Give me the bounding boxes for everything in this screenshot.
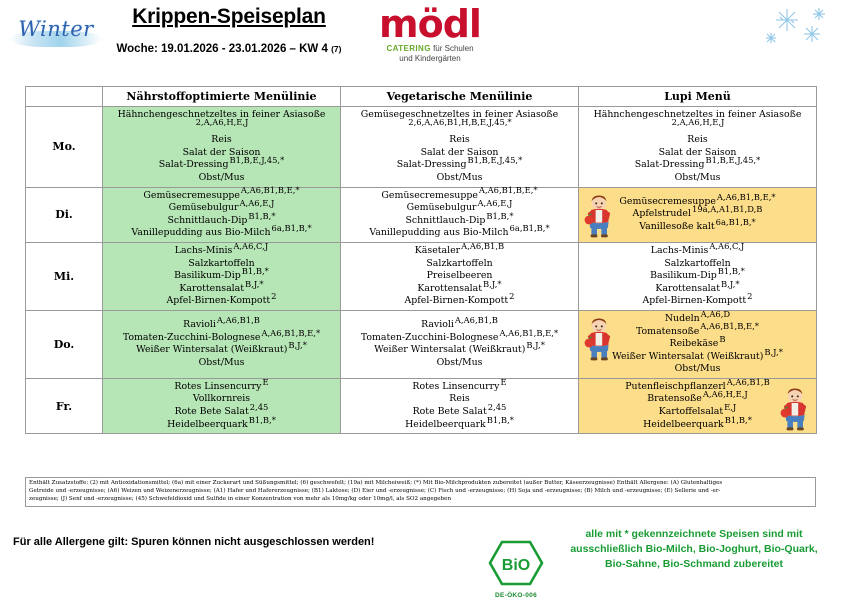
menu-line: Vollkornreis: [105, 393, 338, 406]
menu-line: Obst/Mus: [581, 172, 814, 185]
menu-cell-mo-col1: Hähnchengeschnetzeltes in feiner Asiasoß…: [103, 107, 341, 188]
allergen-codes: B,J,*: [483, 279, 502, 289]
winter-logo-text: Winter: [18, 17, 93, 41]
menu-line: Salat-DressingB1,B,E,J,45,*: [581, 159, 814, 172]
menu-line: Reis: [343, 393, 576, 406]
page-title: Krippen-Speiseplan: [104, 4, 354, 29]
menu-cell-do-col2: RavioliA,A6,B1,BTomaten-Zucchini-Bologne…: [341, 310, 579, 378]
allergen-footnote-box: Enthält Zusatzstoffe: (2) mit Antioxidat…: [25, 477, 816, 507]
menu-table-body: Mo.Hähnchengeschnetzeltes in feiner Asia…: [26, 107, 817, 434]
day-label-do: Do.: [26, 310, 103, 378]
allergen-codes: B,J,*: [288, 340, 307, 350]
menu-line: Preiselbeeren: [343, 270, 576, 283]
allergen-codes: B1,B,*: [242, 266, 269, 276]
allergen-codes: 2,6,A,A6,B1,H,B,E,J,45,*: [408, 117, 511, 127]
column-header-naehrstoffoptimiert: Nährstoffoptimierte Menülinie: [103, 87, 341, 107]
allergen-codes: A,A6,B1,B,E,*: [499, 328, 558, 338]
menu-line: TomatensoßeA,A6,B1,B,E,*: [581, 326, 814, 339]
snowflake-decoration: [757, 4, 835, 50]
menu-line: BratensoßeA,A6,H,E,J: [581, 393, 814, 406]
menu-line: GemüsecremesuppeA,A6,B1,B,E,*: [343, 190, 576, 203]
allergen-codes: A,A6,B1,B,E,*: [261, 328, 320, 338]
allergen-codes: A,A6,C,J: [233, 241, 268, 251]
menu-cell-mo-col3: Hähnchengeschnetzeltes in feiner Asiasoß…: [579, 107, 817, 188]
menu-line: Salat-DressingB1,B,E,J,45,*: [343, 159, 576, 172]
day-label-mi: Mi.: [26, 242, 103, 310]
menu-cell-mi-col3: Lachs-MinisA,A6,C,JSalzkartoffelnBasilik…: [579, 242, 817, 310]
modl-catering-word: CATERING: [386, 44, 430, 53]
footnote-line-2: Getreide und -erzeugnisse; (A6) Weizen u…: [29, 487, 812, 495]
allergen-codes: A,A6,B1,B,E,*: [479, 185, 538, 195]
allergen-codes: A,A6,E,J: [478, 198, 513, 208]
modl-wordmark: mödl: [365, 4, 495, 44]
day-label-di: Di.: [26, 187, 103, 242]
allergen-codes: 2,45: [488, 402, 507, 412]
menu-line: NudelnA,A6,D: [581, 313, 814, 326]
bio-code-label: DE-ÖKO-006: [485, 592, 547, 599]
allergen-codes: A,A6,B1,B: [455, 315, 498, 325]
column-header-day: [26, 87, 103, 107]
allergen-trace-note: Für alle Allergene gilt: Spuren können n…: [13, 536, 374, 548]
menu-line: PutenfleischpflanzerlA,A6,B1,B: [581, 381, 814, 394]
menu-line: KarottensalatB,J,*: [581, 283, 814, 296]
menu-cell-fr-col3: PutenfleischpflanzerlA,A6,B1,BBratensoße…: [579, 378, 817, 433]
menu-line: Rote Bete Salat2,45: [343, 406, 576, 419]
allergen-codes: E: [262, 377, 268, 387]
table-row: Fr.Rotes LinsencurryEVollkornreisRote Be…: [26, 378, 817, 433]
menu-cell-do-col3: NudelnA,A6,DTomatensoßeA,A6,B1,B,E,*Reib…: [579, 310, 817, 378]
menu-line: Obst/Mus: [343, 357, 576, 370]
menu-line: HeidelbeerquarkB1,B,*: [581, 419, 814, 432]
allergen-codes: B1,B,*: [486, 211, 513, 221]
menu-line: 2,A,A6,H,E,J: [105, 122, 338, 135]
table-row: Mo.Hähnchengeschnetzeltes in feiner Asia…: [26, 107, 817, 188]
allergen-codes: E: [500, 377, 506, 387]
menu-cell-mi-col1: Lachs-MinisA,A6,C,JSalzkartoffelnBasilik…: [103, 242, 341, 310]
allergen-codes: B1,B,*: [487, 415, 514, 425]
menu-line: KäsetalerA,A6,B1,B: [343, 245, 576, 258]
allergen-codes: B1,B,*: [248, 211, 275, 221]
allergen-codes: 19a,A,A1,B1,D,B: [692, 204, 762, 214]
weekly-menu-table: Nährstoffoptimierte Menülinie Vegetarisc…: [25, 86, 817, 434]
allergen-codes: A,A6,E,J: [240, 198, 275, 208]
menu-line: 2,A,A6,H,E,J: [581, 122, 814, 135]
week-number-suffix: (7): [331, 44, 341, 54]
menu-cell-fr-col2: Rotes LinsencurryEReisRote Bete Salat2,4…: [341, 378, 579, 433]
bio-products-note: alle mit * gekennzeichnete Speisen sind …: [555, 527, 833, 572]
allergen-codes: A,A6,B1,B: [217, 315, 260, 325]
menu-line: Reis: [105, 134, 338, 147]
menu-line: Basilikum-DipB1,B,*: [581, 270, 814, 283]
allergen-codes: B: [719, 334, 725, 344]
allergen-codes: A,A6,B1,B,E,*: [241, 185, 300, 195]
allergen-codes: 2,45: [250, 402, 269, 412]
menu-line: Apfel-Birnen-Kompott2: [105, 295, 338, 308]
allergen-codes: A,A6,B1,B,E,*: [700, 321, 759, 331]
bio-note-line-1: alle mit * gekennzeichnete Speisen sind …: [555, 527, 833, 542]
menu-line: Lachs-MinisA,A6,C,J: [105, 245, 338, 258]
menu-line: HeidelbeerquarkB1,B,*: [105, 419, 338, 432]
menu-cell-di-col2: GemüsecremesuppeA,A6,B1,B,E,*Gemüsebulgu…: [341, 187, 579, 242]
allergen-codes: B,J,*: [721, 279, 740, 289]
bio-note-line-3: Bio-Sahne, Bio-Schmand zubereitet: [555, 557, 833, 572]
menu-line: Obst/Mus: [343, 172, 576, 185]
day-label-fr: Fr.: [26, 378, 103, 433]
menu-line: Reis: [343, 134, 576, 147]
modl-fuer-schulen: für Schulen: [431, 44, 474, 53]
menu-line: Weißer Wintersalat (Weißkraut)B,J,*: [105, 344, 338, 357]
menu-line: Apfel-Birnen-Kompott2: [343, 295, 576, 308]
title-block: Krippen-Speiseplan Woche: 19.01.2026 - 2…: [104, 4, 354, 55]
menu-line: Obst/Mus: [581, 363, 814, 376]
allergen-codes: B1,B,*: [249, 415, 276, 425]
allergen-codes: B1,B,*: [725, 415, 752, 425]
allergen-codes: B1,B,E,J,45,*: [229, 155, 284, 165]
week-range: Woche: 19.01.2026 - 23.01.2026 – KW 4 (7…: [104, 43, 354, 55]
table-row: Do.RavioliA,A6,B1,BTomaten-Zucchini-Bolo…: [26, 310, 817, 378]
page-header: Winter Krippen-Speiseplan Woche: 19.01.2…: [0, 0, 841, 82]
allergen-codes: 6a,B1,B,*: [716, 217, 756, 227]
menu-line: 2,6,A,A6,B1,H,B,E,J,45,*: [343, 122, 576, 135]
menu-line: KartoffelsalatE,J: [581, 406, 814, 419]
footnote-line-1: Enthält Zusatzstoffe: (2) mit Antioxidat…: [29, 479, 812, 487]
winter-season-logo: Winter: [8, 6, 104, 52]
allergen-codes: A,A6,H,E,J: [703, 389, 748, 399]
bio-note-line-2: ausschließlich Bio-Milch, Bio-Joghurt, B…: [555, 542, 833, 557]
menu-line: Salat der Saison: [343, 147, 576, 160]
menu-line: Apfel-Birnen-Kompott2: [581, 295, 814, 308]
menu-line: KarottensalatB,J,*: [105, 283, 338, 296]
speiseplan-page: Winter Krippen-Speiseplan Woche: 19.01.2…: [0, 0, 841, 595]
menu-line: Obst/Mus: [105, 357, 338, 370]
allergen-codes: 2: [747, 291, 752, 301]
allergen-codes: 6a,B1,B,*: [510, 223, 550, 233]
menu-line: Apfelstrudel19a,A,A1,B1,D,B: [581, 208, 814, 221]
table-header-row: Nährstoffoptimierte Menülinie Vegetarisc…: [26, 87, 817, 107]
menu-line: Salat der Saison: [581, 147, 814, 160]
menu-line: Vanillesoße kalt6a,B1,B,*: [581, 221, 814, 234]
day-label-mo: Mo.: [26, 107, 103, 188]
table-row: Di.GemüsecremesuppeA,A6,B1,B,E,*Gemüsebu…: [26, 187, 817, 242]
modl-brand-logo: mödl CATERING für Schulen und Kindergärt…: [365, 4, 495, 64]
menu-line: GemüsecremesuppeA,A6,B1,B,E,*: [105, 190, 338, 203]
allergen-codes: 2,A,A6,H,E,J: [672, 117, 725, 127]
menu-line: Rote Bete Salat2,45: [105, 406, 338, 419]
menu-line: GemüsebulgurA,A6,E,J: [343, 202, 576, 215]
column-header-vegetarisch: Vegetarische Menülinie: [341, 87, 579, 107]
week-range-label: Woche: 19.01.2026 - 23.01.2026 – KW 4: [117, 43, 328, 55]
allergen-codes: 2: [509, 291, 514, 301]
allergen-codes: B,J,*: [526, 340, 545, 350]
menu-cell-mo-col2: Gemüsegeschnetzeltes in feiner Asiasoße2…: [341, 107, 579, 188]
menu-line: Rotes LinsencurryE: [343, 381, 576, 394]
allergen-codes: 6a,B1,B,*: [272, 223, 312, 233]
menu-line: HeidelbeerquarkB1,B,*: [343, 419, 576, 432]
menu-cell-di-col1: GemüsecremesuppeA,A6,B1,B,E,*Gemüsebulgu…: [103, 187, 341, 242]
allergen-codes: B1,B,*: [718, 266, 745, 276]
menu-line: Salzkartoffeln: [581, 258, 814, 271]
bio-seal-logo: BiO DE-ÖKO-006: [485, 540, 547, 599]
menu-cell-fr-col1: Rotes LinsencurryEVollkornreisRote Bete …: [103, 378, 341, 433]
menu-line: Obst/Mus: [105, 172, 338, 185]
menu-cell-di-col3: GemüsecremesuppeA,A6,B1,B,E,*Apfelstrude…: [579, 187, 817, 242]
footnote-line-3: zeugnisse; (J) Senf und -erzeugnisse; (4…: [29, 495, 812, 503]
allergen-codes: A,A6,D: [701, 309, 730, 319]
allergen-codes: A,A6,B1,B: [461, 241, 504, 251]
menu-line: Vanillepudding aus Bio-Milch6a,B1,B,*: [105, 227, 338, 240]
menu-line: KarottensalatB,J,*: [343, 283, 576, 296]
allergen-codes: A,A6,C,J: [709, 241, 744, 251]
menu-line: GemüsebulgurA,A6,E,J: [105, 202, 338, 215]
menu-line: Salat-DressingB1,B,E,J,45,*: [105, 159, 338, 172]
menu-cell-mi-col2: KäsetalerA,A6,B1,BSalzkartoffelnPreiselb…: [341, 242, 579, 310]
menu-line: Vanillepudding aus Bio-Milch6a,B1,B,*: [343, 227, 576, 240]
allergen-codes: B,J,*: [245, 279, 264, 289]
column-header-lupi: Lupi Menü: [579, 87, 817, 107]
allergen-codes: B1,B,E,J,45,*: [467, 155, 522, 165]
menu-line: Weißer Wintersalat (Weißkraut)B,J,*: [343, 344, 576, 357]
menu-line: Rotes LinsencurryE: [105, 381, 338, 394]
menu-cell-do-col1: RavioliA,A6,B1,BTomaten-Zucchini-Bologne…: [103, 310, 341, 378]
modl-tagline-line2: und Kindergärten: [365, 54, 495, 64]
menu-line: Lachs-MinisA,A6,C,J: [581, 245, 814, 258]
menu-line: Salzkartoffeln: [105, 258, 338, 271]
menu-line: Weißer Wintersalat (Weißkraut)B,J,*: [581, 351, 814, 364]
allergen-codes: 2: [271, 291, 276, 301]
menu-line: Salat der Saison: [105, 147, 338, 160]
menu-line: Reis: [581, 134, 814, 147]
allergen-codes: 2,A,A6,H,E,J: [196, 117, 249, 127]
allergen-codes: B,J,*: [764, 347, 783, 357]
allergen-codes: E,J: [724, 402, 736, 412]
bio-hexagon-icon: BiO: [488, 540, 544, 586]
allergen-codes: A,A6,B1,B: [727, 377, 770, 387]
menu-line: Basilikum-DipB1,B,*: [105, 270, 338, 283]
menu-line: Salzkartoffeln: [343, 258, 576, 271]
svg-text:BiO: BiO: [502, 557, 530, 574]
allergen-codes: A,A6,B1,B,E,*: [717, 192, 776, 202]
table-row: Mi.Lachs-MinisA,A6,C,JSalzkartoffelnBasi…: [26, 242, 817, 310]
allergen-codes: B1,B,E,J,45,*: [705, 155, 760, 165]
